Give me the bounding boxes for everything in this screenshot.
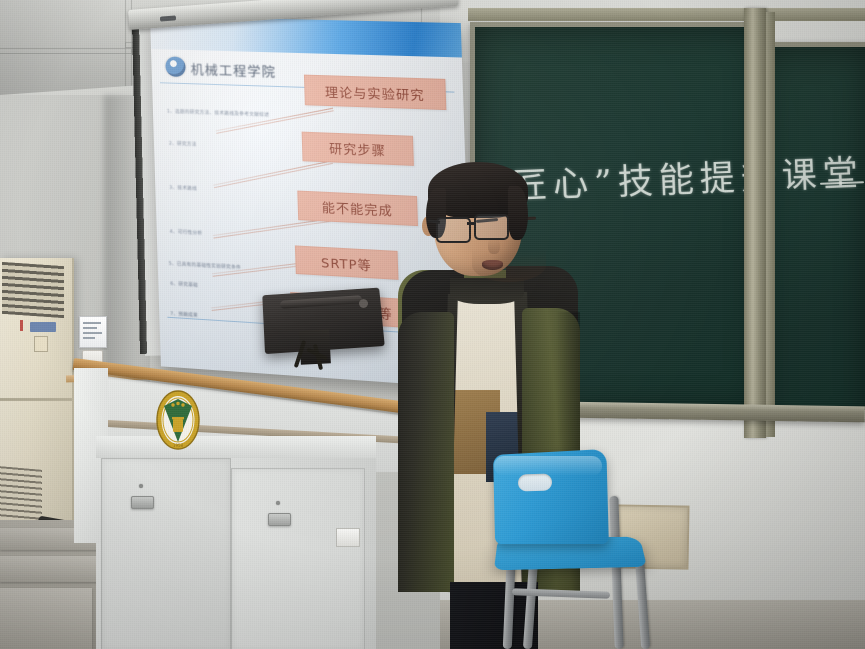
blackboard-slide-frame-inner	[766, 12, 775, 437]
eyeglass-lens-right	[474, 214, 509, 240]
slide-box-4: SRTP等	[295, 245, 399, 279]
university-seal-logo	[165, 56, 186, 77]
university-crest-svg: 1958	[155, 389, 201, 451]
ac-top-grille	[2, 262, 64, 318]
svg-text:1958: 1958	[173, 443, 184, 448]
ac-panel-seam	[0, 398, 72, 401]
chair-handle-slot	[518, 473, 553, 491]
wall-notice[interactable]	[79, 316, 107, 348]
ac-brand-label	[30, 322, 56, 332]
classroom-photo: “匠心”技能提升课堂 机械工程学院	[0, 0, 865, 649]
lectern-cabinet-door-left[interactable]	[101, 458, 231, 649]
equipment-asset-plate	[336, 528, 360, 547]
floor-step-3	[0, 588, 92, 649]
slide-bullet-2: 2、研究方法	[169, 141, 197, 148]
eyeglass-bridge	[467, 222, 476, 225]
floor-step-2	[0, 556, 98, 582]
chair-backrest-highlight	[494, 456, 602, 476]
cabinet-handle-right[interactable]	[268, 513, 291, 526]
cabinet-lock-right[interactable]	[276, 501, 280, 505]
monitor-hinge-knob	[359, 299, 368, 308]
nose	[488, 238, 500, 254]
university-crest: 1958	[155, 389, 201, 451]
mouth	[482, 260, 503, 270]
eyeglass-lens-left	[436, 217, 471, 243]
lectern-cabinet-door-right[interactable]	[231, 468, 365, 649]
lectern-body-top	[96, 436, 376, 458]
blackboard-slide-frame[interactable]	[744, 8, 766, 438]
cabinet-handle-left[interactable]	[131, 496, 154, 509]
slide-box-1: 理论与实验研究	[304, 75, 446, 110]
blackboard-top-rail	[468, 8, 865, 21]
cabinet-lock-left[interactable]	[139, 484, 143, 488]
wall-notice-accent	[20, 320, 23, 331]
slide-bullet-3: 3、技术路线	[169, 185, 197, 192]
slide-box-2: 研究步骤	[302, 132, 414, 166]
ac-sticker	[34, 336, 48, 352]
arm-left	[398, 312, 454, 592]
